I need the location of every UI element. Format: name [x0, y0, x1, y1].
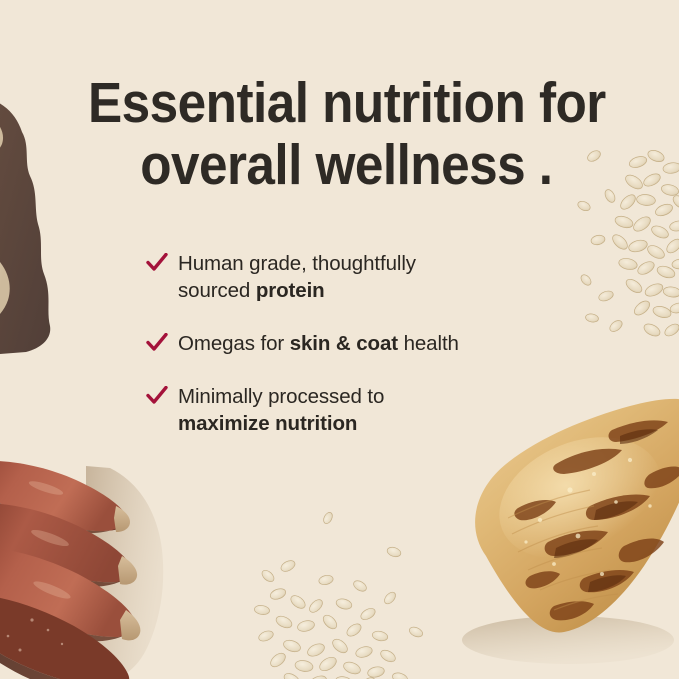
list-item-omegas: Omegas for skin & coat health	[146, 330, 576, 357]
sliced-steak-image	[0, 444, 205, 679]
check-icon	[146, 386, 168, 406]
protein-line2-plain: sourced	[178, 279, 256, 302]
rolled-oats-scatter-image	[248, 494, 448, 679]
list-item-processing: Minimally processed to maximize nutritio…	[146, 383, 576, 437]
check-icon	[146, 333, 168, 353]
headline-line-2: overall wellness .	[88, 134, 574, 196]
list-item-processing-line2: maximize nutrition	[178, 410, 576, 437]
rolled-oats-image	[576, 140, 679, 340]
list-item-omegas-line1: Omegas for skin & coat health	[178, 330, 576, 357]
page-headline: Essential nutrition for overall wellness…	[88, 72, 574, 196]
omegas-emphasis: skin & coat	[290, 332, 398, 355]
omegas-tail: health	[398, 332, 459, 355]
list-item-protein-line1: Human grade, thoughtfully	[178, 250, 576, 277]
benefits-list: Human grade, thoughtfully sourced protei…	[146, 250, 576, 437]
protein-emphasis: protein	[256, 279, 325, 302]
processing-emphasis: maximize nutrition	[178, 412, 357, 435]
sliced-turkey-breast-image	[0, 88, 102, 356]
headline-line-1: Essential nutrition for	[88, 72, 574, 134]
promo-banner: Essential nutrition for overall wellness…	[0, 0, 679, 679]
list-item-protein: Human grade, thoughtfully sourced protei…	[146, 250, 576, 304]
check-icon	[146, 253, 168, 273]
list-item-processing-line1: Minimally processed to	[178, 383, 576, 410]
omegas-plain: Omegas for	[178, 332, 290, 355]
list-item-protein-line2: sourced protein	[178, 277, 576, 304]
